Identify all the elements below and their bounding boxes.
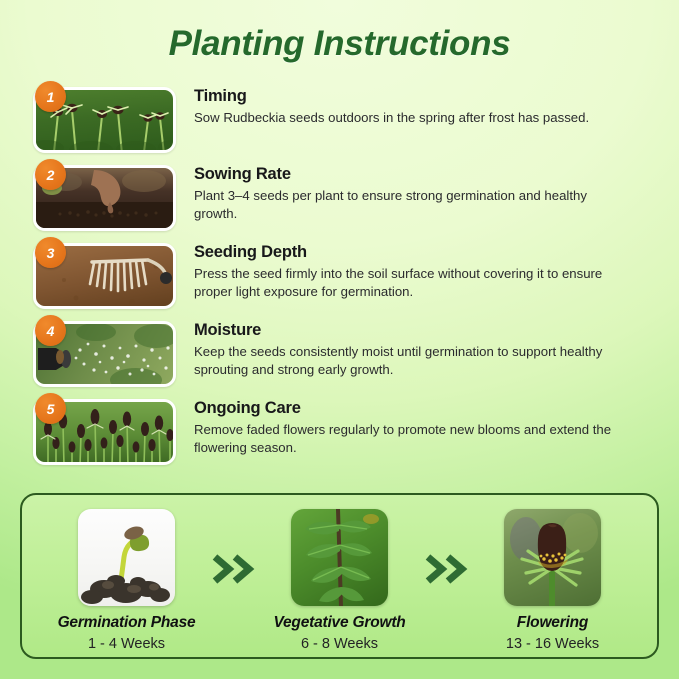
list-item: 3 xyxy=(33,237,659,315)
timeline-phase-flowering: Flowering 13 - 16 Weeks xyxy=(470,509,635,652)
step-description: Press the seed firmly into the soil surf… xyxy=(194,265,614,301)
timeline-phase-weeks: 1 - 4 Weeks xyxy=(44,636,209,652)
planting-steps-list: 1 xyxy=(0,81,679,471)
step-thumbnail-wrap: 3 xyxy=(33,237,185,309)
step-thumbnail-wrap: 4 xyxy=(33,315,185,387)
timeline-phase-name: Vegetative Growth xyxy=(257,614,422,632)
step-number-badge: 2 xyxy=(35,159,66,190)
growth-timeline-panel: Germination Phase 1 - 4 Weeks xyxy=(20,493,659,659)
step-number-badge: 3 xyxy=(35,237,66,268)
step-title: Ongoing Care xyxy=(194,399,659,418)
step-description: Plant 3–4 seeds per plant to ensure stro… xyxy=(194,187,614,223)
rudbeckia-bloom-illustration xyxy=(504,509,601,606)
step-description: Sow Rudbeckia seeds outdoors in the spri… xyxy=(194,109,614,127)
step-title: Moisture xyxy=(194,321,659,340)
timeline-phase-vegetative: Vegetative Growth 6 - 8 Weeks xyxy=(257,509,422,652)
timeline-phase-name: Germination Phase xyxy=(44,614,209,632)
sprouting-seed-illustration xyxy=(78,509,175,606)
page-title: Planting Instructions xyxy=(0,0,679,61)
step-thumbnail-wrap: 1 xyxy=(33,81,185,153)
step-text: Sowing Rate Plant 3–4 seeds per plant to… xyxy=(185,159,659,223)
step-description: Remove faded flowers regularly to promot… xyxy=(194,421,614,457)
step-text: Moisture Keep the seeds consistently moi… xyxy=(185,315,659,379)
step-title: Sowing Rate xyxy=(194,165,659,184)
step-number-badge: 4 xyxy=(35,315,66,346)
list-item: 4 xyxy=(33,315,659,393)
step-title: Timing xyxy=(194,87,659,106)
step-text: Seeding Depth Press the seed firmly into… xyxy=(185,237,659,301)
timeline-phase-germination: Germination Phase 1 - 4 Weeks xyxy=(44,509,209,652)
timeline-phase-name: Flowering xyxy=(470,614,635,632)
list-item: 5 xyxy=(33,393,659,471)
sprouting-seed-photo xyxy=(78,509,175,606)
double-chevron-right-icon xyxy=(422,552,470,586)
step-description: Keep the seeds consistently moist until … xyxy=(194,343,614,379)
step-number-badge: 1 xyxy=(35,81,66,112)
green-foliage-photo xyxy=(291,509,388,606)
step-thumbnail-wrap: 5 xyxy=(33,393,185,465)
double-chevron-right-icon xyxy=(209,552,257,586)
green-foliage-illustration xyxy=(291,509,388,606)
list-item: 1 xyxy=(33,81,659,159)
step-thumbnail-wrap: 2 xyxy=(33,159,185,231)
rudbeckia-bloom-photo xyxy=(504,509,601,606)
timeline-phase-weeks: 13 - 16 Weeks xyxy=(470,636,635,652)
step-title: Seeding Depth xyxy=(194,243,659,262)
step-text: Timing Sow Rudbeckia seeds outdoors in t… xyxy=(185,81,659,127)
timeline-phase-weeks: 6 - 8 Weeks xyxy=(257,636,422,652)
list-item: 2 xyxy=(33,159,659,237)
step-text: Ongoing Care Remove faded flowers regula… xyxy=(185,393,659,457)
step-number-badge: 5 xyxy=(35,393,66,424)
